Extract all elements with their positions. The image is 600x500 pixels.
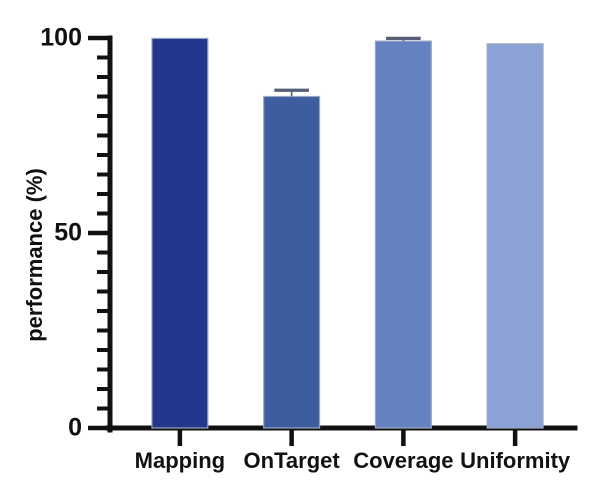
bar-chart-figure: performance (%) 050100 MappingOnTargetCo… xyxy=(0,0,600,500)
bar-mapping xyxy=(152,38,208,428)
bar-uniformity xyxy=(487,44,543,428)
x-tick-label-uniformity: Uniformity xyxy=(460,448,571,473)
bar-coverage xyxy=(375,41,431,428)
x-tick-label-mapping: Mapping xyxy=(135,448,225,473)
x-tick-label-coverage: Coverage xyxy=(353,448,453,473)
y-tick-label: 100 xyxy=(40,24,82,52)
x-axis-tick-labels: MappingOnTargetCoverageUniformity xyxy=(135,448,571,473)
y-axis-title: performance (%) xyxy=(22,168,47,342)
bar-ontarget xyxy=(264,97,320,429)
x-tick-label-ontarget: OnTarget xyxy=(244,448,341,473)
y-tick-label: 50 xyxy=(54,219,82,247)
y-tick-label: 0 xyxy=(68,414,82,442)
chart-canvas: performance (%) 050100 MappingOnTargetCo… xyxy=(0,0,600,500)
y-axis-title-text: performance (%) xyxy=(22,168,47,342)
